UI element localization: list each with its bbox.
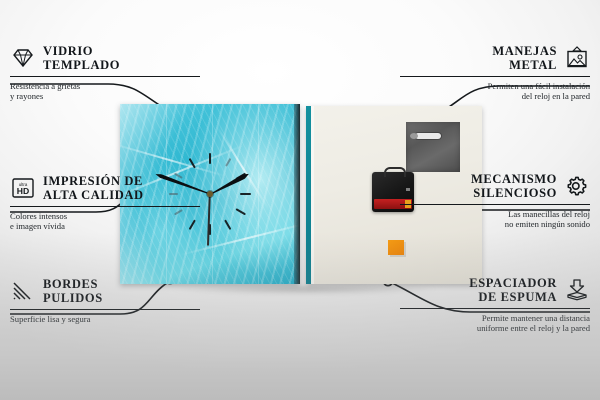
svg-text:HD: HD bbox=[17, 186, 29, 196]
feature-title-line2: DE ESPUMA bbox=[478, 290, 557, 304]
gear-icon bbox=[564, 174, 590, 198]
feature-title-line2: METAL bbox=[509, 58, 557, 72]
metal-hanger-plate bbox=[406, 122, 460, 172]
feature-description: Superficie lisa y segura bbox=[10, 314, 200, 324]
feature-divider bbox=[10, 76, 200, 77]
ultra-hd-icon: ultra HD bbox=[10, 176, 36, 200]
diamond-icon bbox=[10, 46, 36, 70]
feature-espaciador-de-espuma: ESPACIADOR DE ESPUMA Permite mantener un… bbox=[400, 276, 590, 334]
feature-title-line2: SILENCIOSO bbox=[473, 186, 557, 200]
feature-impresion-alta-calidad: ultra HD IMPRESIÓN DE ALTA CALIDAD Color… bbox=[10, 174, 200, 232]
feature-title-line1: VIDRIO bbox=[43, 44, 93, 58]
feature-title-line1: ESPACIADOR bbox=[469, 276, 557, 290]
polished-edges-icon bbox=[10, 279, 36, 303]
feature-title-line2: TEMPLADO bbox=[43, 58, 120, 72]
feature-title-line1: MANEJAS bbox=[492, 44, 557, 58]
feature-title-line1: IMPRESIÓN DE bbox=[43, 174, 143, 188]
feature-mecanismo-silencioso: MECANISMO SILENCIOSO Las manecillas del … bbox=[400, 172, 590, 230]
feature-title-line1: MECANISMO bbox=[471, 172, 557, 186]
feature-title-line1: BORDES bbox=[43, 277, 98, 291]
foam-spacer-icon bbox=[564, 278, 590, 302]
feature-vidrio-templado: VIDRIO TEMPLADO Resistencia a grietas y … bbox=[10, 44, 200, 102]
feature-description: Resistencia a grietas y rayones bbox=[10, 81, 200, 102]
feature-description: Permite mantener una distancia uniforme … bbox=[400, 313, 590, 334]
feature-title-line2: PULIDOS bbox=[43, 291, 103, 305]
feature-divider bbox=[10, 206, 200, 207]
foam-spacer bbox=[388, 240, 404, 255]
feature-title-line2: ALTA CALIDAD bbox=[43, 188, 144, 202]
feature-description: Colores intensos e imagen vívida bbox=[10, 211, 200, 232]
feature-description: Las manecillas del reloj no emiten ningú… bbox=[400, 209, 590, 230]
picture-frame-icon bbox=[564, 46, 590, 70]
feature-bordes-pulidos: BORDES PULIDOS Superficie lisa y segura bbox=[10, 277, 200, 324]
feature-divider bbox=[400, 76, 590, 77]
feature-divider bbox=[400, 308, 590, 309]
infographic-canvas: VIDRIO TEMPLADO Resistencia a grietas y … bbox=[0, 0, 600, 400]
clock-center-hub bbox=[207, 191, 213, 197]
feature-manejas-metal: MANEJAS METAL Permiten una fácil instala… bbox=[400, 44, 590, 102]
feature-divider bbox=[400, 204, 590, 205]
feature-divider bbox=[10, 309, 200, 310]
feature-description: Permiten una fácil instalación del reloj… bbox=[400, 81, 590, 102]
